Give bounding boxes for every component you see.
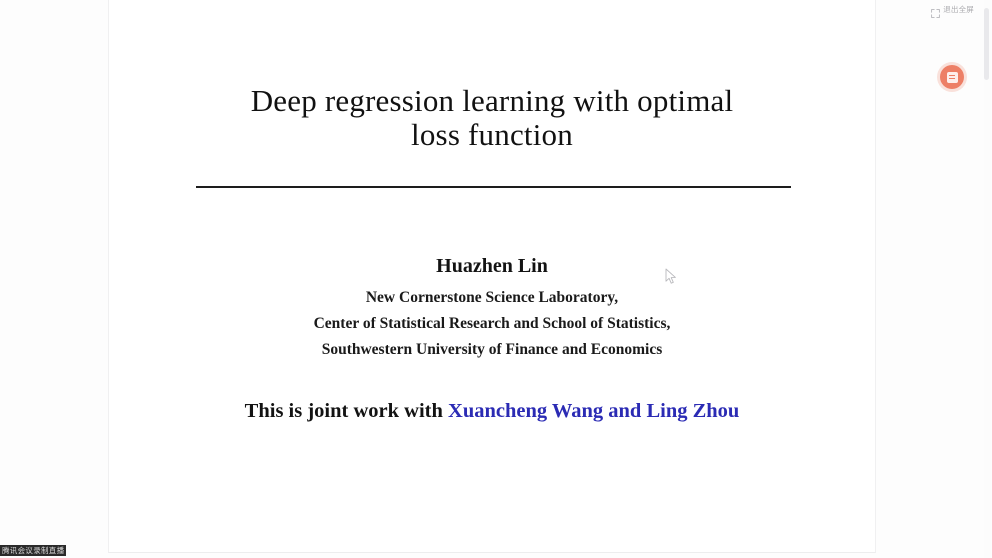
recording-watermark: 腾讯会议录制直播 [0,545,66,556]
affiliation-line-2: Center of Statistical Research and Schoo… [109,311,875,337]
author-block: Huazhen Lin New Cornerstone Science Labo… [109,254,875,363]
title-divider-rule [196,186,791,188]
author-name: Huazhen Lin [109,254,875,278]
screenshot-float-button[interactable] [940,65,964,89]
slide-title-line-2: loss function [109,118,875,152]
vertical-scrollbar-track[interactable] [984,0,991,558]
presentation-viewer: Deep regression learning with optimal lo… [0,0,992,558]
recording-watermark-label: 腾讯会议录制直播 [2,545,64,556]
screenshot-icon [947,72,958,83]
vertical-scrollbar-thumb[interactable] [984,8,989,80]
slide-title-line-1: Deep regression learning with optimal [109,84,875,118]
slide-title-block: Deep regression learning with optimal lo… [109,84,875,152]
affiliation-line-3: Southwestern University of Finance and E… [109,337,875,363]
joint-work-collaborators: Xuancheng Wang and Ling Zhou [448,400,739,422]
slide-canvas[interactable]: Deep regression learning with optimal lo… [108,0,876,553]
exit-fullscreen-button[interactable]: 退出全屏 [931,5,974,14]
joint-work-prefix: This is joint work with [245,400,448,422]
exit-fullscreen-icon [931,5,940,14]
exit-fullscreen-label: 退出全屏 [943,5,974,14]
affiliation-line-1: New Cornerstone Science Laboratory, [109,285,875,311]
joint-work-line: This is joint work with Xuancheng Wang a… [109,398,875,424]
